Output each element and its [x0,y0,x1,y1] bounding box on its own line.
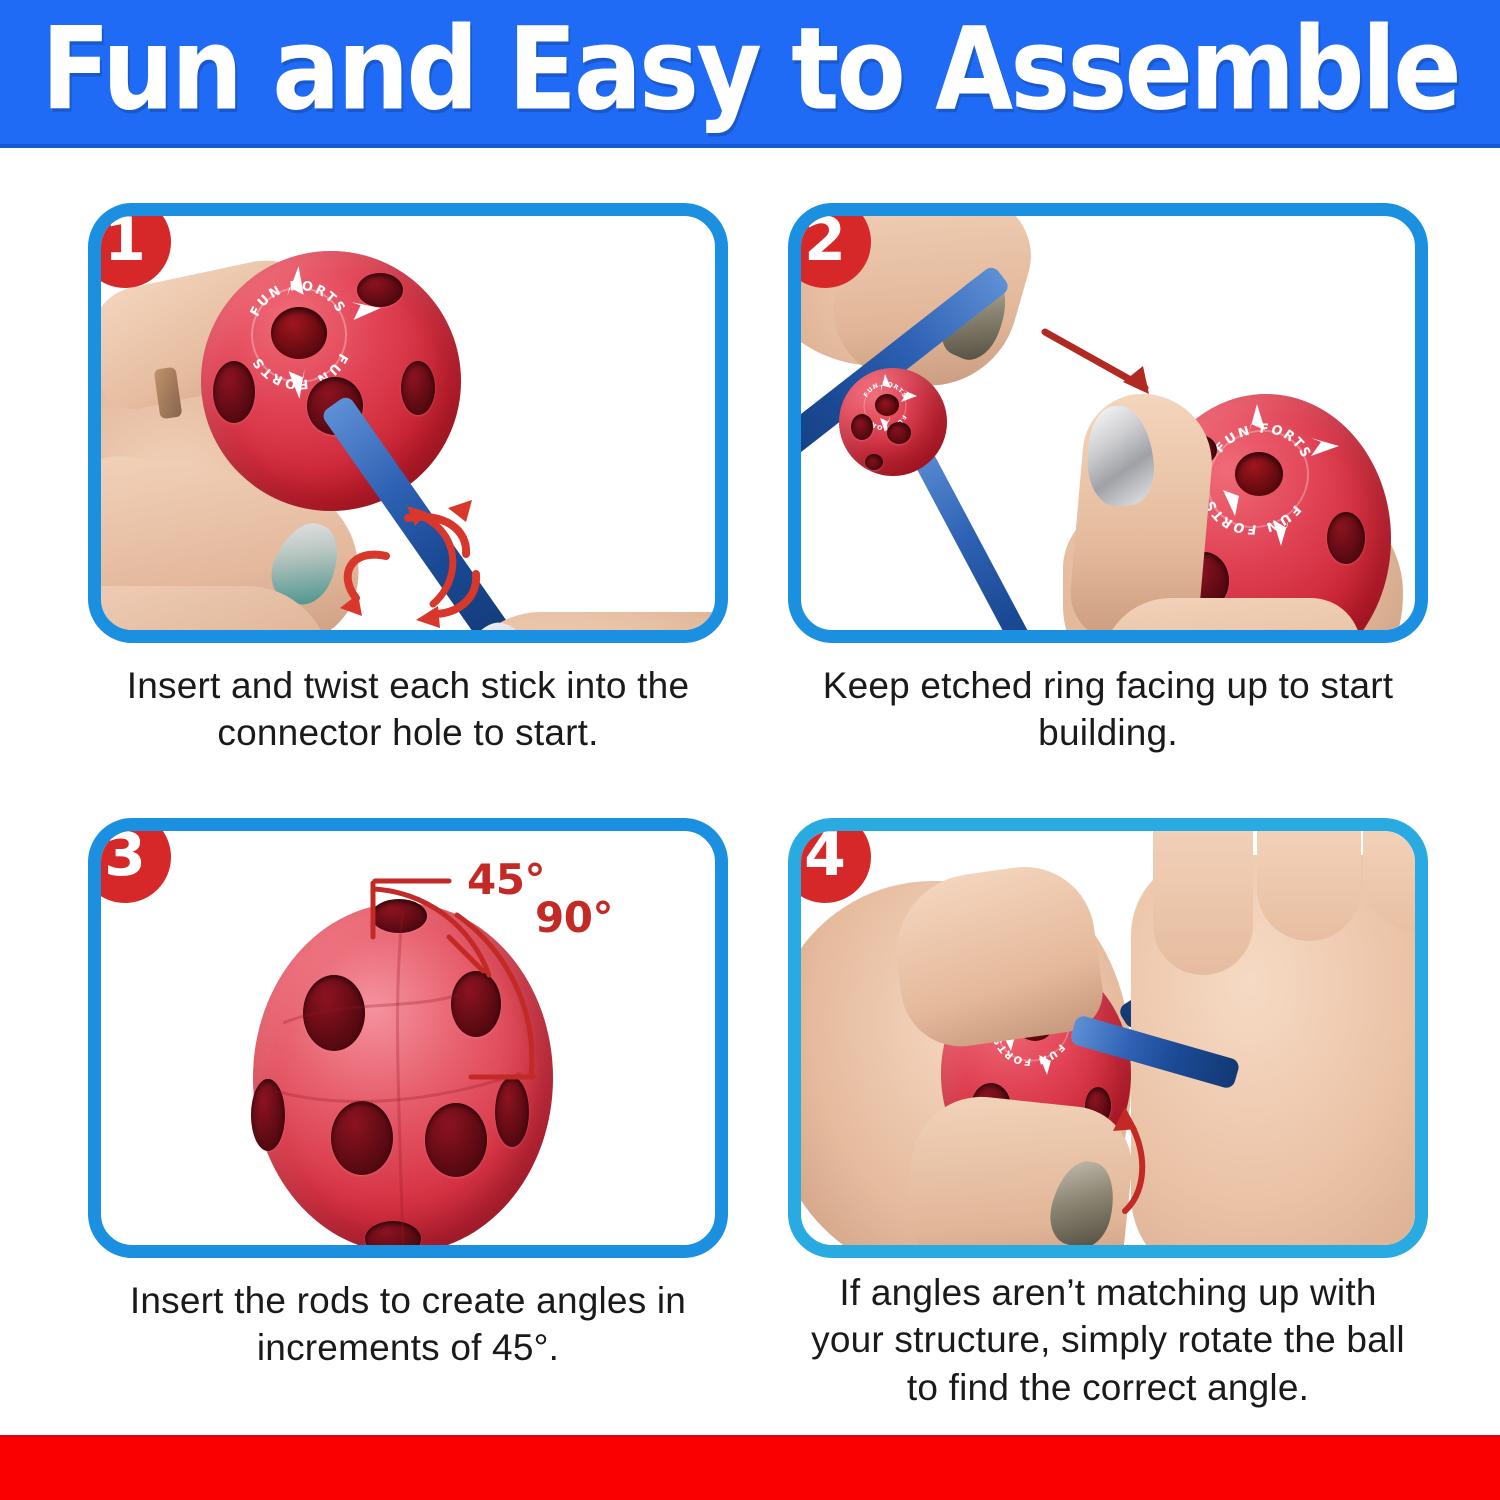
step-3-photo: 45° 90° [101,831,715,1245]
angle-label-45: 45° [467,859,545,901]
ball-hole [865,454,883,470]
step-4-caption: If angles aren’t matching up with your s… [778,1269,1438,1411]
step-4-photo: FUN FORTS FUN FORTS [801,831,1415,1245]
step-1-photo-frame: FUN FORTS FUN FORTS [88,203,728,643]
connector-ball-small: FUN FORTS FUN FORTS [839,368,947,476]
caption-line: Insert and twist each stick into the [78,662,738,709]
step-1-photo: FUN FORTS FUN FORTS [101,216,715,630]
footer-band [0,1437,1500,1500]
caption-line: to find the correct angle. [778,1364,1438,1411]
step-card-3: 45° 90° 3 [88,818,728,1258]
ball-hole [1327,512,1365,564]
caption-line: building. [778,709,1438,756]
page-title: Fun and Easy to Assemble [8,0,1493,148]
angle-label-90: 90° [535,897,613,939]
header-underline [0,144,1500,148]
hand-right-finger-1 [1153,831,1253,975]
caption-line: Insert the rods to create angles in [78,1277,738,1324]
ball-hole [887,422,911,444]
ball-hole [851,414,873,440]
ball-hole [357,273,403,307]
caption-line: Keep etched ring facing up to start [778,662,1438,709]
step-4-photo-frame: FUN FORTS FUN FORTS [788,818,1428,1258]
rotate-arrow [1091,1093,1181,1223]
step-3-caption: Insert the rods to create angles in incr… [78,1277,738,1372]
header-banner: Fun and Easy to Assemble [0,0,1500,148]
ball-hole [213,361,255,423]
caption-line: your structure, simply rotate the ball [778,1316,1438,1363]
step-card-1: FUN FORTS FUN FORTS [88,203,728,643]
hand-right-finger-2 [1257,831,1361,941]
step-card-2: FUN FORTS FUN FORTS [788,203,1428,643]
twist-arrow-secondary [401,492,521,622]
caption-line: If angles aren’t matching up with [778,1269,1438,1316]
step-1-caption: Insert and twist each stick into the con… [78,662,738,757]
step-card-4: FUN FORTS FUN FORTS [788,818,1428,1258]
step-2-photo-frame: FUN FORTS FUN FORTS [788,203,1428,643]
step-2-caption: Keep etched ring facing up to start buil… [778,662,1438,757]
step-3-photo-frame: 45° 90° 3 [88,818,728,1258]
caption-line: connector hole to start. [78,709,738,756]
ball-hole [401,361,435,415]
step-2-photo: FUN FORTS FUN FORTS [801,216,1415,630]
caption-line: increments of 45°. [78,1324,738,1371]
